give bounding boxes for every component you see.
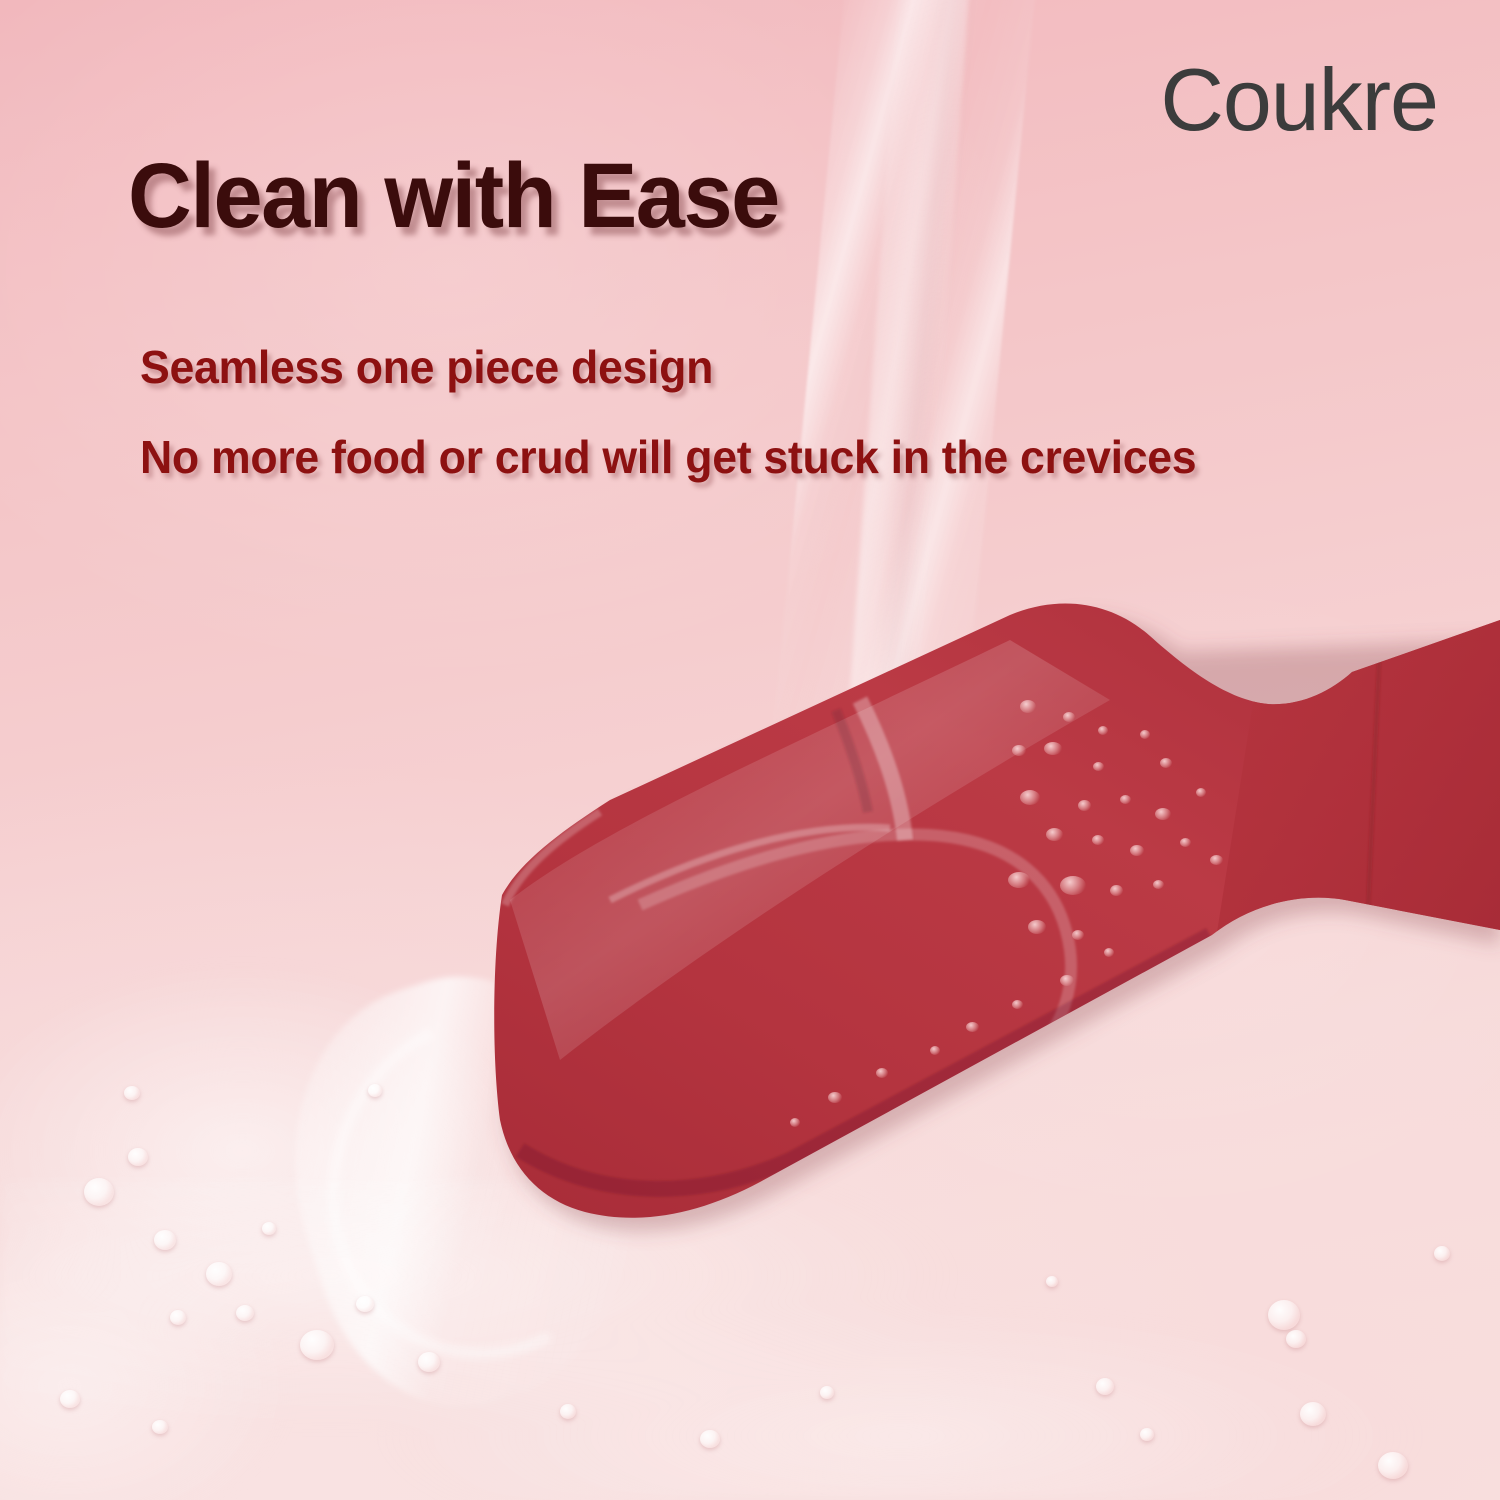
wet-surface-sheen	[0, 1180, 1500, 1500]
page-title: Clean with Ease	[128, 150, 779, 242]
product-lifestyle-image: Coukre Clean with Ease Seamless one piec…	[0, 0, 1500, 1500]
brand-logo-text: Coukre	[1160, 56, 1438, 144]
subheading-seamless-design: Seamless one piece design	[140, 340, 713, 394]
subheading-no-food-stuck: No more food or crud will get stuck in t…	[140, 430, 1196, 484]
